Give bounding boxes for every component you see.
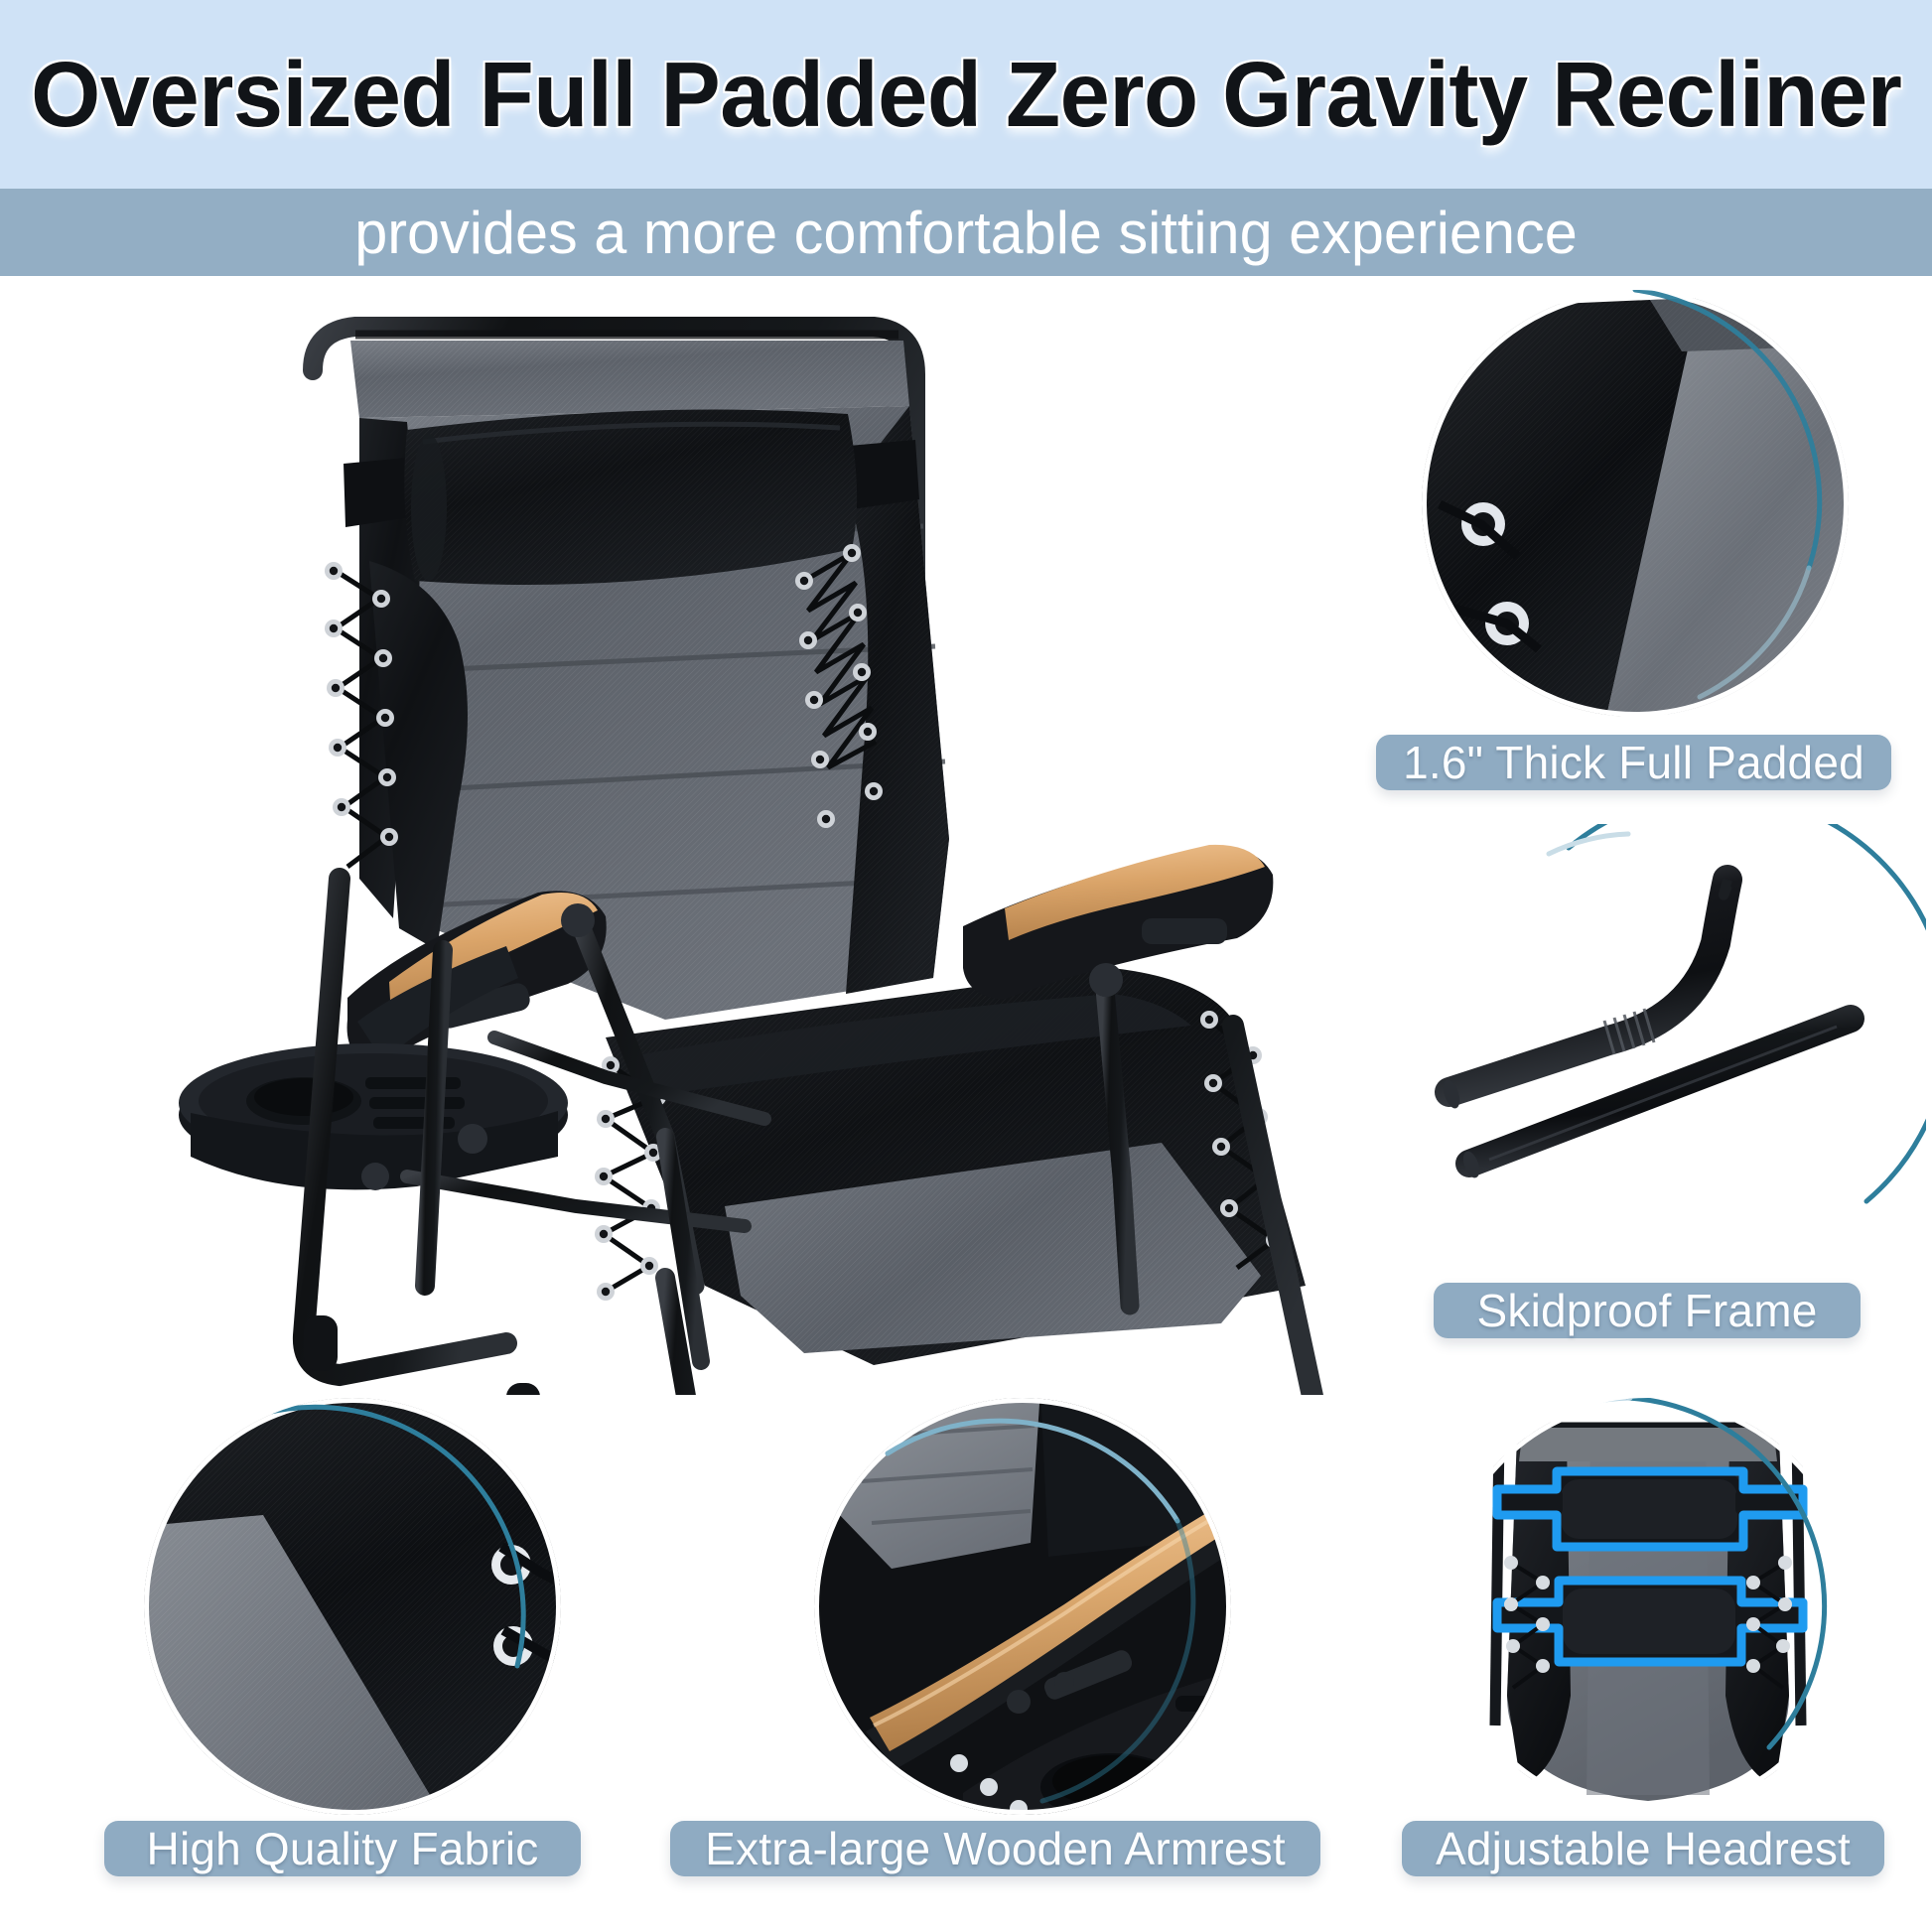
badge-thick-full-padded-label: 1.6" Thick Full Padded [1403,736,1864,789]
chair-illustration [109,283,1400,1395]
fabric-closeup-art [144,1398,561,1815]
page-title: Oversized Full Padded Zero Gravity Recli… [31,42,1901,148]
title-band: Oversized Full Padded Zero Gravity Recli… [0,0,1932,189]
armrest-closeup-art [814,1398,1231,1815]
product-main-image [109,283,1400,1395]
badge-skidproof-frame: Skidproof Frame [1434,1283,1861,1338]
badge-wooden-armrest-label: Extra-large Wooden Armrest [705,1822,1286,1875]
padding-closeup-art [1422,290,1849,717]
detail-armrest-closeup [814,1398,1231,1815]
tray-slots [365,1077,465,1129]
badge-thick-full-padded: 1.6" Thick Full Padded [1376,735,1891,790]
chair-seat [606,968,1306,1365]
detail-padding-closeup [1422,290,1849,717]
infographic-stage: Oversized Full Padded Zero Gravity Recli… [0,0,1932,1932]
frame-tubes-art [1430,824,1926,1241]
badge-skidproof-frame-label: Skidproof Frame [1476,1284,1817,1337]
badge-high-quality-fabric: High Quality Fabric [104,1821,581,1876]
detail-fabric-closeup [144,1398,561,1815]
badge-high-quality-fabric-label: High Quality Fabric [147,1822,539,1875]
page-subtitle: provides a more comfortable sitting expe… [354,199,1578,267]
cup-holder [246,1077,361,1125]
headrest-closeup-art [1440,1398,1857,1815]
badge-adjustable-headrest: Adjustable Headrest [1402,1821,1884,1876]
detail-frame-tubes [1430,824,1926,1241]
detail-ring-arc-frame [1569,824,1926,1201]
detail-headrest-closeup [1440,1398,1857,1815]
straight-frame-tube [1460,1019,1851,1180]
subtitle-band: provides a more comfortable sitting expe… [0,189,1932,276]
badge-wooden-armrest: Extra-large Wooden Armrest [670,1821,1320,1876]
badge-adjustable-headrest-label: Adjustable Headrest [1436,1822,1851,1875]
